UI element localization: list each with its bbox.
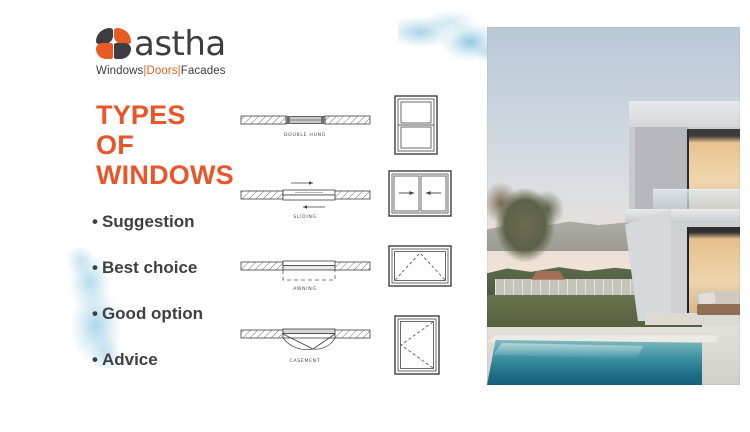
list-item-label: Advice xyxy=(102,350,158,369)
diagram-row-sliding: SLIDING xyxy=(233,165,476,237)
photo-border xyxy=(487,27,740,385)
petal-top-right-icon xyxy=(114,28,131,44)
casement-plan-icon: CASEMENT xyxy=(233,312,378,374)
logo-row: astha xyxy=(96,24,246,64)
brand-name: astha xyxy=(134,26,226,62)
petal-bottom-right-icon xyxy=(114,43,131,59)
tagline-doors: Doors xyxy=(146,65,177,77)
sliding-plan-icon: SLIDING xyxy=(233,165,378,225)
brand-logo[interactable]: astha Windows|Doors|Facades xyxy=(96,24,246,80)
list-item-label: Best choice xyxy=(102,258,197,277)
awning-elevation-icon xyxy=(381,242,461,298)
double-hung-elevation-icon xyxy=(381,92,453,162)
list-item: •Best choice xyxy=(92,258,252,278)
brand-tagline: Windows|Doors|Facades xyxy=(96,65,246,77)
list-item: •Suggestion xyxy=(92,212,252,232)
page-title-line-2: OF xyxy=(96,130,246,160)
slide-canvas: astha Windows|Doors|Facades TYPES OF WIN… xyxy=(0,0,750,432)
diagram-label: DOUBLE HUNG xyxy=(284,132,326,138)
tagline-facades: Facades xyxy=(181,65,226,77)
bullet-dot-icon: • xyxy=(92,212,98,231)
sliding-elevation-icon xyxy=(381,165,461,227)
page-title-line-1: TYPES xyxy=(96,100,246,130)
diagram-label: SLIDING xyxy=(293,214,317,220)
window-types-diagram-panel: DOUBLE HUNG xyxy=(233,92,476,380)
casement-elevation-icon xyxy=(381,312,453,382)
petal-top-left-icon xyxy=(96,28,113,44)
diagram-row-casement: CASEMENT xyxy=(233,312,476,384)
diagram-row-double-hung: DOUBLE HUNG xyxy=(233,92,476,164)
list-item: •Good option xyxy=(92,304,252,324)
bullet-dot-icon: • xyxy=(92,258,98,277)
petal-bottom-left-icon xyxy=(96,43,113,59)
awning-plan-icon: AWNING xyxy=(233,242,378,300)
page-title: TYPES OF WINDOWS xyxy=(96,100,246,190)
page-title-line-3: WINDOWS xyxy=(96,160,246,190)
astha-butterfly-mark-icon xyxy=(96,28,132,60)
list-item-label: Good option xyxy=(102,304,203,323)
diagram-row-awning: AWNING xyxy=(233,242,476,314)
list-item: •Advice xyxy=(92,350,252,370)
diagram-label: CASEMENT xyxy=(290,358,321,364)
tagline-windows: Windows xyxy=(96,65,143,77)
bullet-dot-icon: • xyxy=(92,304,98,323)
double-hung-plan-icon: DOUBLE HUNG xyxy=(233,92,378,148)
bullet-list: •Suggestion •Best choice •Good option •A… xyxy=(92,212,252,396)
bullet-dot-icon: • xyxy=(92,350,98,369)
list-item-label: Suggestion xyxy=(102,212,195,231)
modern-house-pool-photo xyxy=(487,27,740,385)
diagram-label: AWNING xyxy=(293,286,316,292)
